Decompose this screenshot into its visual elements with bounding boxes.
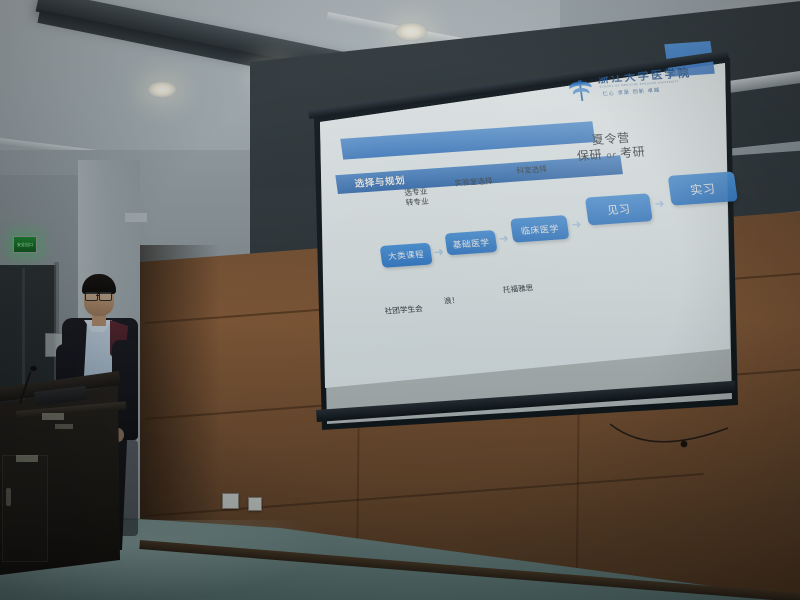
exit-sign-label: 安全出口 xyxy=(17,243,33,247)
podium-cabinet-panel[interactable] xyxy=(2,455,48,562)
flow-box-internship: 实习 xyxy=(668,171,738,205)
glasses-bridge xyxy=(96,295,100,296)
or-connector: or xyxy=(602,150,621,161)
annotation-student-clubs: 社团学生会 xyxy=(384,303,423,317)
wall-switch[interactable] xyxy=(248,497,262,511)
lecture-hall-photo: 安全出口 xyxy=(0,0,800,600)
flow-arrow-icon: ➜ xyxy=(571,218,583,231)
wall-vent xyxy=(125,213,147,222)
grad-options-label: 保研or考研 xyxy=(576,143,647,165)
logo-motto: 仁心 求是 创新 卓越 xyxy=(602,87,660,98)
microphone-icon xyxy=(30,366,37,371)
flow-box-clerkship: 见习 xyxy=(585,193,653,225)
flow-arrow-icon: ➜ xyxy=(433,246,445,259)
podium-label-plate xyxy=(16,455,38,462)
podium-label-plate xyxy=(55,424,73,429)
annotation-travel: 浪！ xyxy=(443,295,460,307)
annotation-major-choice: 选专业 转专业 xyxy=(404,187,430,208)
glasses-icon xyxy=(99,292,112,301)
annotation-lab-choice: 实验室选择 xyxy=(454,176,493,189)
annotation-department-choice: 科室选择 xyxy=(516,164,548,176)
ceiling-downlight xyxy=(147,81,177,98)
exit-sign: 安全出口 xyxy=(13,236,37,253)
flow-box-general-courses: 大类课程 xyxy=(380,243,433,268)
flow-box-clinical-medicine: 临床医学 xyxy=(510,215,569,243)
flow-box-basic-medicine: 基础医学 xyxy=(444,230,497,255)
projection-screen[interactable]: 浙江大学医学院 SCHOOL OF MEDICINE ZHEJIANG UNIV… xyxy=(306,58,738,430)
flow-arrow-icon: ➜ xyxy=(498,232,510,245)
annotation-language-tests: 托福雅思 xyxy=(502,282,534,295)
recommended-admission-label: 保研 xyxy=(576,148,603,164)
flow-arrow-icon: ➜ xyxy=(654,197,666,210)
entrance-exam-label: 考研 xyxy=(619,145,646,161)
slide-content: 浙江大学医学院 SCHOOL OF MEDICINE ZHEJIANG UNIV… xyxy=(324,38,769,383)
ceiling-downlight xyxy=(394,22,428,41)
glasses-icon xyxy=(85,292,98,301)
podium-label-plate xyxy=(42,413,64,420)
slide-top-bar xyxy=(340,121,595,159)
wall-outlet[interactable] xyxy=(222,493,239,509)
cabinet-handle[interactable] xyxy=(6,488,11,506)
